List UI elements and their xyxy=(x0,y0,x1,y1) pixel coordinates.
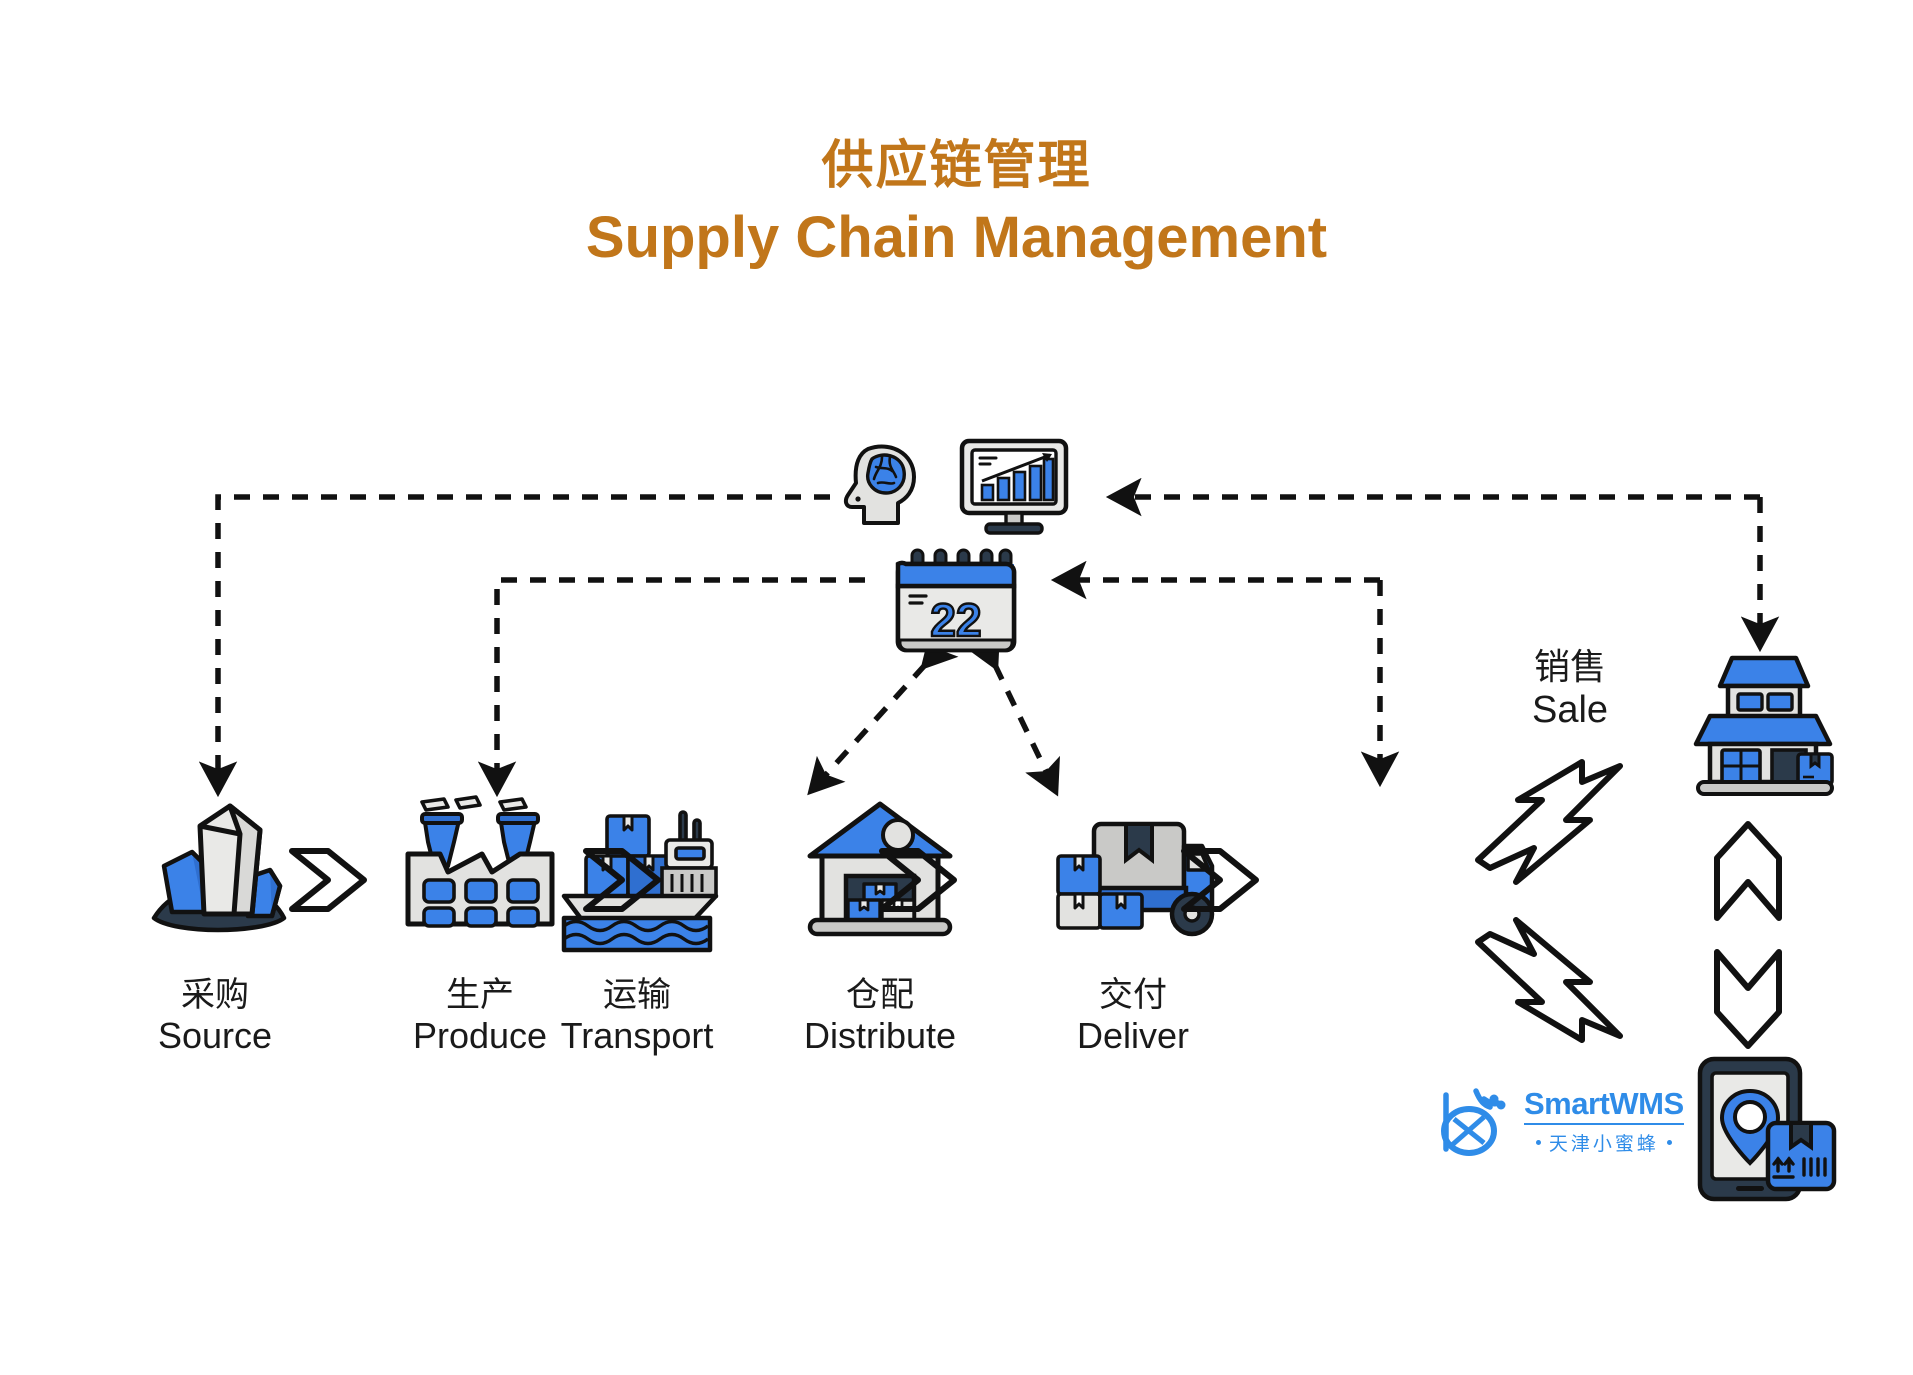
stage-label-distribute: 仓配 Distribute xyxy=(755,975,1005,1058)
logo-subtitle: 天津小蜜蜂 xyxy=(1549,1129,1659,1156)
title-english: Supply Chain Management xyxy=(0,205,1913,272)
wire-calendar-transport xyxy=(812,665,925,790)
stage-label-deliver-en: Deliver xyxy=(1008,1015,1258,1057)
stage-label-transport: 运输 Transport xyxy=(512,975,762,1058)
sale-label-en: Sale xyxy=(1475,688,1665,734)
wire-hub-to-produce xyxy=(497,580,865,790)
double-chevron-right-icon xyxy=(582,847,662,913)
double-chevron-right-icon xyxy=(878,847,958,913)
lightning-chevron-down-icon xyxy=(1470,930,1670,1050)
sale-label-zh: 销售 xyxy=(1475,645,1665,688)
factory-icon xyxy=(400,792,560,932)
double-chevron-right-icon xyxy=(1180,847,1260,913)
gems-icon xyxy=(148,800,290,932)
logo-dot-left xyxy=(1536,1140,1541,1145)
stage-label-transport-en: Transport xyxy=(512,1015,762,1057)
stage-label-distribute-zh: 仓配 xyxy=(755,975,1005,1015)
storefront-icon xyxy=(1688,650,1838,795)
title-chinese: 供应链管理 xyxy=(0,140,1913,192)
sale-label: 销售 Sale xyxy=(1475,645,1665,734)
diagram-canvas: 供应链管理 Supply Chain Management xyxy=(0,0,1913,1375)
stage-label-transport-zh: 运输 xyxy=(512,975,762,1015)
smartwms-logo: SmartWMS 天津小蜜蜂 xyxy=(1440,1085,1684,1159)
stage-label-deliver-zh: 交付 xyxy=(1008,975,1258,1015)
chevron-down-icon xyxy=(1713,940,1783,1050)
brain-head-icon xyxy=(838,437,934,533)
calendar-icon: 22 xyxy=(888,548,1024,668)
logo-divider xyxy=(1524,1123,1684,1125)
mobile-tracking-icon xyxy=(1690,1055,1840,1210)
chevron-up-icon xyxy=(1713,820,1783,930)
logo-name: SmartWMS xyxy=(1524,1088,1684,1121)
wire-calendar-distribute xyxy=(995,665,1055,790)
logo-dot-right xyxy=(1667,1140,1672,1145)
double-chevron-right-icon xyxy=(288,847,368,913)
stage-label-source: 采购 Source xyxy=(90,975,340,1058)
calendar-day-number: 22 xyxy=(930,594,981,646)
lightning-chevron-up-icon xyxy=(1470,760,1670,880)
bee-icon xyxy=(1440,1085,1514,1159)
stage-label-deliver: 交付 Deliver xyxy=(1008,975,1258,1058)
stage-label-distribute-en: Distribute xyxy=(755,1015,1005,1057)
wire-hub-to-source xyxy=(218,497,830,790)
stage-label-source-en: Source xyxy=(90,1015,340,1057)
analytics-monitor-icon xyxy=(958,437,1070,537)
stage-label-source-zh: 采购 xyxy=(90,975,340,1015)
